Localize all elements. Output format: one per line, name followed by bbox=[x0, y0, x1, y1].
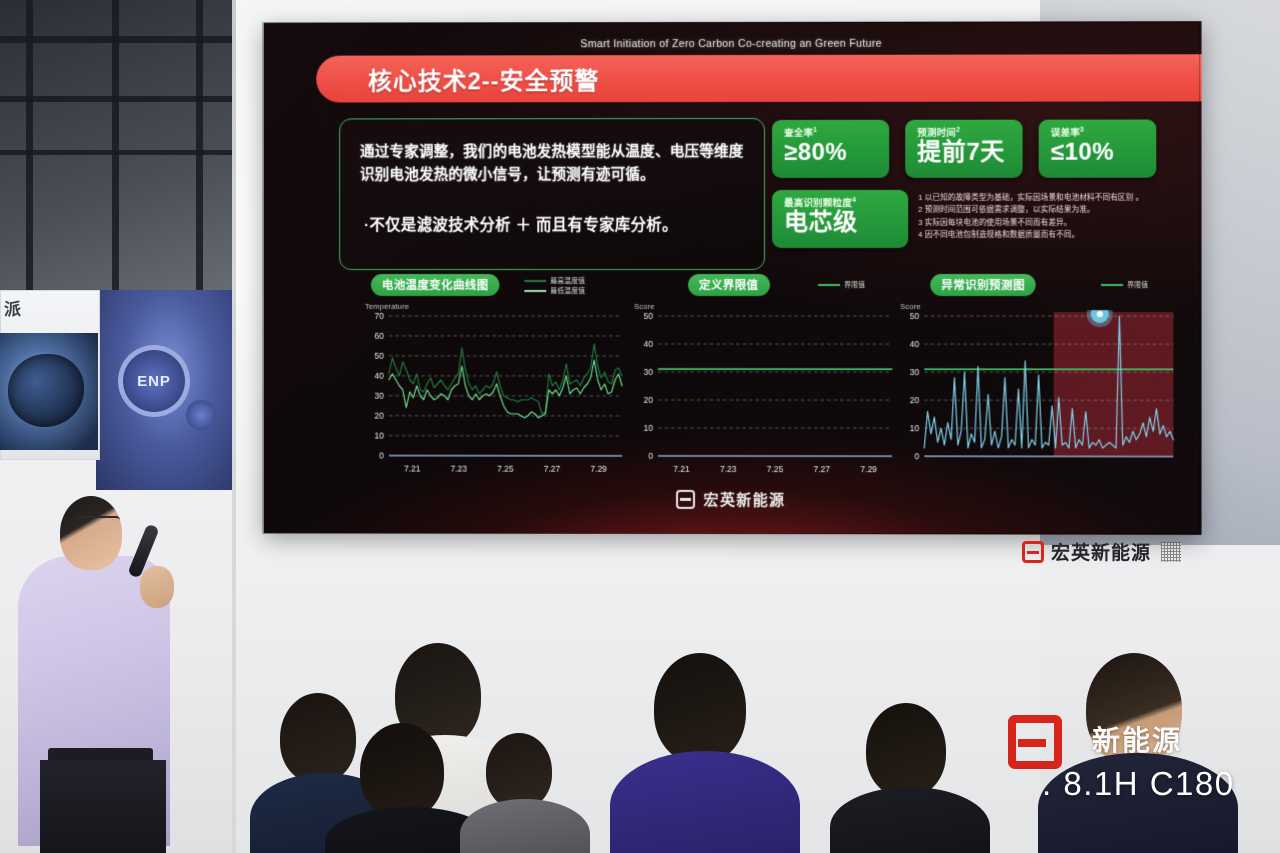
legend-swatch bbox=[524, 280, 546, 282]
svg-text:7.27: 7.27 bbox=[814, 464, 831, 474]
description-paragraph-2: ·不仅是滤波技术分析 ＋ 而且有专家库分析。 bbox=[364, 213, 755, 235]
booth-number: . 8.1H C180 bbox=[1042, 765, 1235, 803]
metric-card-label: 最高识别颗粒度4 bbox=[784, 197, 898, 210]
metric-card-lead-time: 预测时间2 提前7天 bbox=[905, 120, 1022, 178]
slide-footer-brand: 宏英新能源 bbox=[264, 488, 1202, 510]
legend-swatch bbox=[818, 284, 840, 286]
svg-text:0: 0 bbox=[915, 451, 920, 461]
chart-legend: 最高温度值 最低温度值 bbox=[524, 276, 585, 296]
hongying-logo-icon bbox=[677, 490, 696, 509]
svg-text:7.21: 7.21 bbox=[404, 464, 421, 474]
chart-plot-area: 01020304050 bbox=[898, 310, 1177, 483]
audience-member bbox=[610, 653, 800, 853]
audience-member bbox=[830, 703, 990, 853]
presenter-head bbox=[60, 496, 122, 570]
legend-label: 界限值 bbox=[844, 280, 865, 290]
chart-title: 异常识别预测图 bbox=[930, 274, 1036, 296]
chart-threshold-definition: 定义界限值 界限值 Score 010203040507.217.237.257… bbox=[632, 274, 896, 486]
legend-entry: 界限值 bbox=[1101, 280, 1148, 290]
audience-member bbox=[460, 733, 590, 853]
description-paragraph-1: 通过专家调整，我们的电池发热模型能从温度、电压等维度识别电池发热的微小信号，让预… bbox=[360, 141, 751, 186]
footnote-item: 4 因不同电池包制造规格和数据质量而有不同。 bbox=[918, 229, 1187, 241]
svg-text:7.21: 7.21 bbox=[673, 464, 690, 474]
wall-edge bbox=[232, 0, 236, 853]
screenshot-root: ENP 派 Smart Initiation of Zero Carbon Co… bbox=[0, 0, 1280, 853]
footnote-item: 1 以已知的故障类型为基础，实际因场景和电池材料不同有区别 。 bbox=[918, 192, 1187, 204]
metric-card-label: 误差率3 bbox=[1051, 127, 1146, 140]
audience-shoulders bbox=[610, 751, 800, 853]
presentation-screen: Smart Initiation of Zero Carbon Co-creat… bbox=[264, 21, 1202, 535]
truss-beam bbox=[0, 36, 250, 43]
svg-text:40: 40 bbox=[375, 371, 385, 381]
audience-head bbox=[654, 653, 746, 763]
svg-text:10: 10 bbox=[644, 423, 654, 433]
wall-brand-name: 宏英新能源 bbox=[1051, 538, 1151, 565]
svg-text:7.25: 7.25 bbox=[767, 464, 784, 474]
metric-card-label: 查全率1 bbox=[784, 127, 879, 140]
audience-shoulders bbox=[830, 787, 990, 853]
svg-text:0: 0 bbox=[648, 451, 653, 461]
page-title: 核心技术2--安全预警 bbox=[368, 61, 600, 96]
metric-card-value: ≥80% bbox=[784, 139, 879, 166]
svg-text:7.29: 7.29 bbox=[860, 464, 877, 474]
legend-entry: 最高温度值 bbox=[524, 276, 585, 286]
legend-label: 最高温度值 bbox=[550, 276, 585, 286]
chart-legend: 界限值 bbox=[818, 280, 865, 290]
presenter-trousers bbox=[40, 760, 166, 853]
svg-text:20: 20 bbox=[644, 395, 654, 405]
svg-text:20: 20 bbox=[375, 411, 385, 421]
booth-brand-partial: 新能源 bbox=[1092, 719, 1182, 759]
presenter-hand bbox=[140, 566, 174, 608]
svg-text:60: 60 bbox=[375, 331, 385, 341]
background-panel-image bbox=[0, 333, 98, 450]
audience-head bbox=[866, 703, 946, 797]
footnote-item: 3 实际因每块电池的使用场景不同而有差异。 bbox=[918, 216, 1187, 228]
legend-swatch bbox=[524, 290, 546, 292]
audience-shoulders bbox=[460, 799, 590, 853]
svg-text:7.29: 7.29 bbox=[590, 464, 607, 474]
svg-text:20: 20 bbox=[910, 395, 920, 405]
metric-card-value: 提前7天 bbox=[917, 139, 1012, 166]
legend-entry: 界限值 bbox=[818, 280, 865, 290]
qr-code-icon bbox=[1161, 542, 1181, 562]
slide-title-banner: 核心技术2--安全预警 bbox=[316, 54, 1201, 102]
hongying-logo-icon bbox=[1008, 715, 1062, 769]
metric-card-label: 预测时间2 bbox=[917, 127, 1012, 140]
svg-text:7.23: 7.23 bbox=[720, 464, 737, 474]
chart-anomaly-prediction: 异常识别预测图 界限值 Score 01020304050 bbox=[898, 274, 1177, 487]
svg-text:7.27: 7.27 bbox=[544, 464, 561, 474]
svg-text:50: 50 bbox=[910, 311, 920, 321]
booth-decor-circle bbox=[186, 400, 216, 430]
metric-card-recall: 查全率1 ≥80% bbox=[772, 120, 889, 178]
chart-title: 电池温度变化曲线图 bbox=[371, 274, 500, 296]
booth-signage: 新能源 . 8.1H C180 bbox=[980, 713, 1280, 853]
background-panel-logo: 派 bbox=[4, 295, 22, 320]
audience-head bbox=[486, 733, 552, 809]
svg-text:40: 40 bbox=[910, 339, 920, 349]
svg-text:7.23: 7.23 bbox=[451, 464, 468, 474]
legend-label: 界限值 bbox=[1127, 280, 1148, 290]
svg-text:0: 0 bbox=[379, 451, 384, 461]
hongying-logo-icon bbox=[1022, 541, 1044, 563]
truss-beam bbox=[0, 150, 250, 155]
chart-temperature-curve: 电池温度变化曲线图 最高温度值 最低温度值 Temperature 010203… bbox=[363, 274, 626, 486]
svg-text:10: 10 bbox=[375, 431, 385, 441]
glasses-icon bbox=[76, 516, 120, 526]
chart-plot-area: 0102030405060707.217.237.257.277.29 bbox=[363, 310, 626, 482]
svg-text:40: 40 bbox=[644, 339, 654, 349]
svg-text:7.25: 7.25 bbox=[497, 464, 514, 474]
legend-swatch bbox=[1101, 284, 1123, 286]
slide-header-tagline: Smart Initiation of Zero Carbon Co-creat… bbox=[264, 37, 1202, 51]
description-box: 通过专家调整，我们的电池发热模型能从温度、电压等维度识别电池发热的微小信号，让预… bbox=[339, 118, 765, 270]
chart-plot-area: 010203040507.217.237.257.277.29 bbox=[632, 310, 896, 482]
chart-legend: 界限值 bbox=[1101, 280, 1148, 290]
svg-text:30: 30 bbox=[644, 367, 654, 377]
metric-card-value: ≤10% bbox=[1051, 139, 1146, 166]
svg-text:30: 30 bbox=[375, 391, 385, 401]
svg-text:10: 10 bbox=[910, 423, 920, 433]
svg-text:70: 70 bbox=[375, 311, 385, 321]
footnotes-list: 1 以已知的故障类型为基础，实际因场景和电池材料不同有区别 。 2 预测时间范围… bbox=[918, 192, 1187, 241]
audience-head bbox=[360, 723, 444, 819]
metric-card-error-rate: 误差率3 ≤10% bbox=[1039, 120, 1157, 178]
slide-brand-name: 宏英新能源 bbox=[703, 489, 785, 510]
chart-title: 定义界限值 bbox=[688, 274, 769, 296]
svg-text:30: 30 bbox=[910, 367, 920, 377]
metric-card-value: 电芯级 bbox=[784, 209, 898, 236]
metric-card-granularity: 最高识别颗粒度4 电芯级 bbox=[772, 190, 908, 248]
slide-content: Smart Initiation of Zero Carbon Co-creat… bbox=[264, 21, 1202, 535]
footnote-item: 2 预测时间范围可依据需求调整，以实际结果为准。 bbox=[918, 204, 1187, 216]
legend-label: 最低温度值 bbox=[550, 286, 585, 296]
svg-text:50: 50 bbox=[644, 311, 654, 321]
enp-booth-logo: ENP bbox=[118, 345, 190, 417]
legend-entry: 最低温度值 bbox=[524, 286, 585, 296]
truss-beam bbox=[0, 96, 250, 102]
wall-brand-logo: 宏英新能源 bbox=[1022, 538, 1181, 565]
svg-text:50: 50 bbox=[375, 351, 385, 361]
